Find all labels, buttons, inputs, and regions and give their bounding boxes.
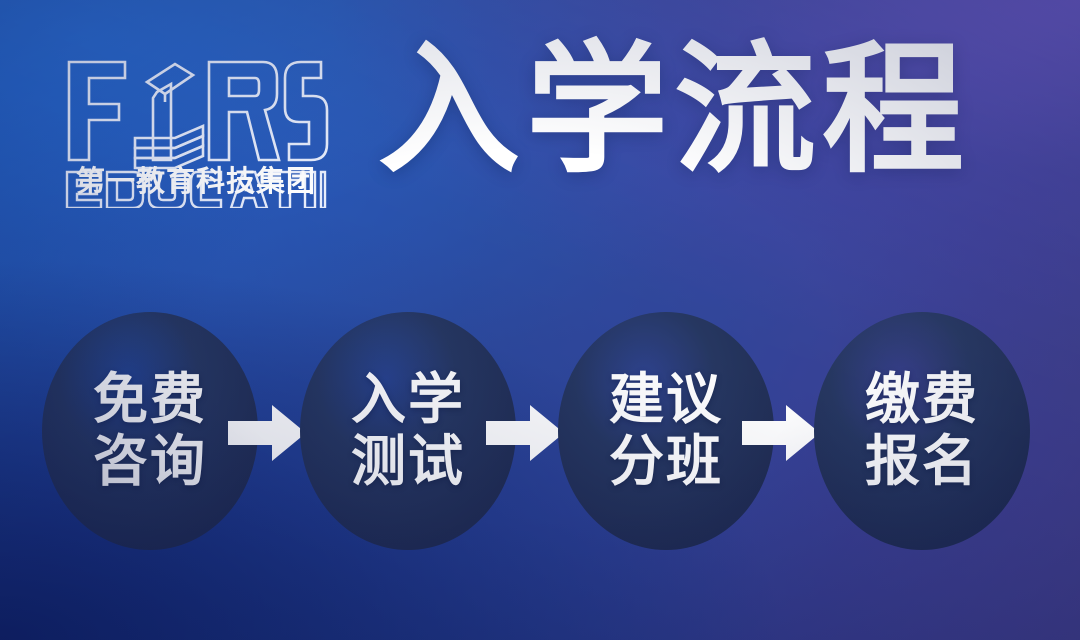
logo-letter-f bbox=[69, 62, 125, 160]
flow-step-payment-registration[interactable]: 缴费 报名 bbox=[814, 312, 1030, 550]
flow-step-free-consultation[interactable]: 免费 咨询 bbox=[42, 312, 258, 550]
flow-step-entrance-test[interactable]: 入学 测试 bbox=[300, 312, 516, 550]
graduation-cap-icon bbox=[147, 64, 193, 94]
flow-step-label-line2: 测试 bbox=[351, 431, 465, 493]
page-title: 入学流程 bbox=[378, 40, 970, 182]
logo-letter-r bbox=[209, 62, 279, 160]
arrow-right-icon-3 bbox=[742, 402, 820, 464]
poster-canvas: 第一教育科技集团 入学流程 免费 咨询 入学 测试 建议 分班 bbox=[0, 0, 1080, 640]
logo-letter-s bbox=[285, 62, 327, 160]
arrow-right-icon-2 bbox=[486, 402, 564, 464]
arrow-right-icon-1 bbox=[228, 402, 306, 464]
flow-step-label-line2: 咨询 bbox=[93, 431, 207, 493]
book-icon-top bbox=[135, 126, 203, 148]
flow-step-label-line1: 免费 bbox=[93, 369, 207, 431]
enrollment-flow: 免费 咨询 入学 测试 建议 分班 缴费 报名 bbox=[0, 312, 1080, 552]
flow-step-label-line2: 分班 bbox=[609, 431, 723, 493]
logo-chinese-name: 第一教育科技集团 bbox=[63, 168, 329, 197]
flow-step-label-line1: 缴费 bbox=[865, 369, 979, 431]
flow-step-label-line1: 入学 bbox=[351, 369, 465, 431]
flow-step-label-line1: 建议 bbox=[609, 369, 723, 431]
flow-step-label-line2: 报名 bbox=[865, 431, 979, 493]
